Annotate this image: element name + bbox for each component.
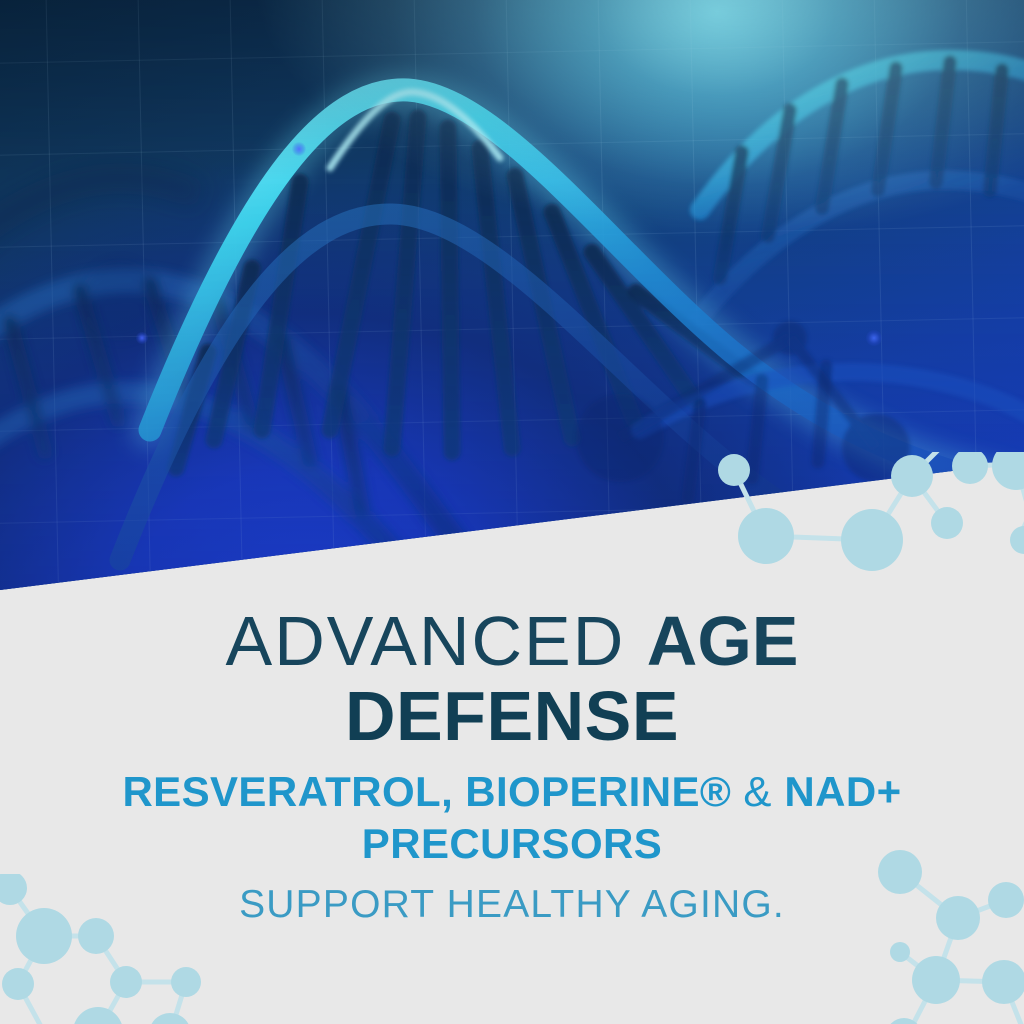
title-age: AGE bbox=[647, 602, 799, 680]
page-title-line-1: ADVANCED AGE bbox=[0, 604, 1024, 678]
poster-canvas: ADVANCED AGE DEFENSE RESVERATROL, BIOPER… bbox=[0, 0, 1024, 1024]
ingredients-subtitle: RESVERATROL, BIOPERINE® & NAD+ PRECURSOR… bbox=[0, 766, 1024, 870]
hero-spark-2 bbox=[136, 332, 148, 344]
title-advanced: ADVANCED bbox=[226, 602, 626, 680]
hero-spark-1 bbox=[292, 142, 306, 156]
page-title-line-2: DEFENSE bbox=[0, 678, 1024, 754]
subtitle-part-1: RESVERATROL, BIOPERINE® bbox=[122, 768, 731, 815]
hero-spark-3 bbox=[866, 330, 882, 346]
subtitle-part-2: NAD+ bbox=[784, 768, 901, 815]
tagline: SUPPORT HEALTHY AGING. bbox=[0, 882, 1024, 928]
headline-block: ADVANCED AGE DEFENSE RESVERATROL, BIOPER… bbox=[0, 604, 1024, 928]
subtitle-ampersand: & bbox=[743, 768, 772, 815]
subtitle-line-2: PRECURSORS bbox=[362, 820, 662, 867]
